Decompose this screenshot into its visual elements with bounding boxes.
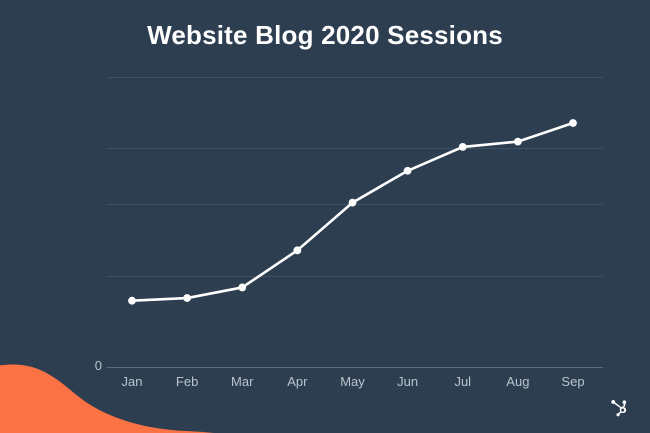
x-tick-label-feb: Feb: [157, 373, 217, 391]
series-line: [132, 123, 573, 301]
x-tick-label-may: May: [323, 373, 383, 391]
x-tick-label-apr: Apr: [267, 373, 327, 391]
x-axis-labels: JanFebMarAprMayJunJulAugSep: [0, 373, 650, 393]
data-point-may: [349, 199, 357, 207]
x-tick-label-mar: Mar: [212, 373, 272, 391]
data-point-sep: [569, 119, 577, 127]
data-point-feb: [183, 294, 191, 302]
slide-canvas: Website Blog 2020 Sessions 0 JanFebMarAp…: [0, 0, 650, 433]
data-point-jun: [404, 167, 412, 175]
x-tick-label-jul: Jul: [433, 373, 493, 391]
data-point-jan: [128, 297, 136, 305]
x-tick-label-sep: Sep: [543, 373, 603, 391]
x-tick-label-aug: Aug: [488, 373, 548, 391]
x-tick-label-jan: Jan: [102, 373, 162, 391]
line-series-chart: [0, 0, 650, 433]
data-point-apr: [293, 246, 301, 254]
series-markers: [128, 119, 577, 304]
hubspot-sprocket-logo: [608, 397, 632, 421]
data-point-mar: [238, 284, 246, 292]
data-point-aug: [514, 138, 522, 146]
x-tick-label-jun: Jun: [378, 373, 438, 391]
data-point-jul: [459, 143, 467, 151]
